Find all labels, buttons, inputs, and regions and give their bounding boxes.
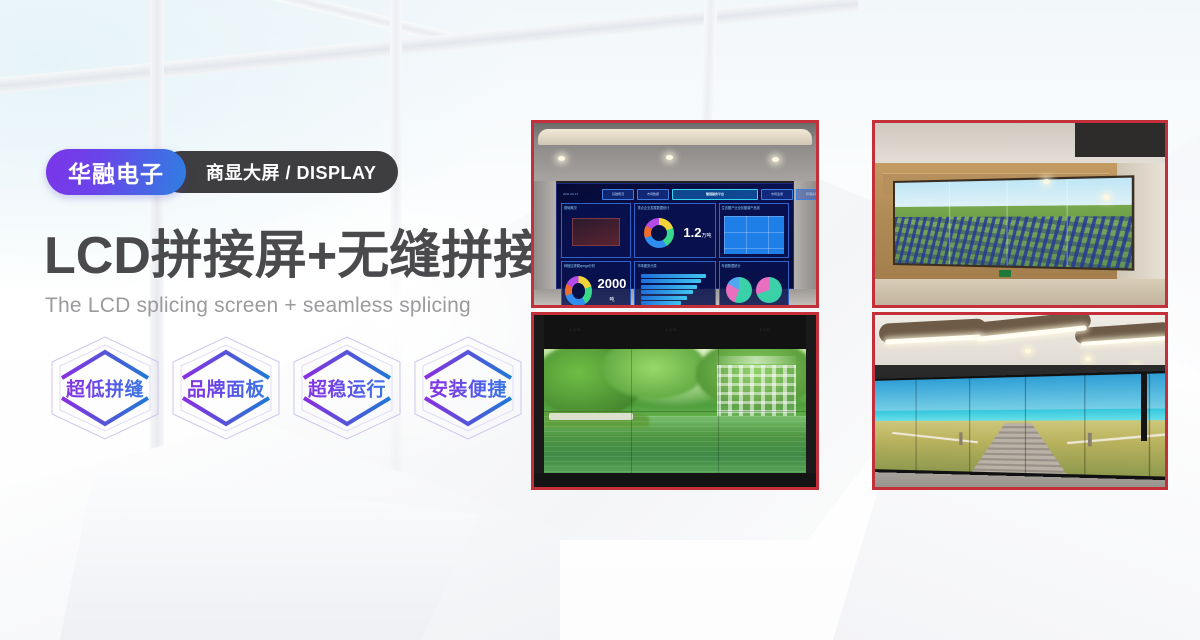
downlight-icon bbox=[1025, 349, 1031, 353]
dashboard-nav-button: 基础概况 bbox=[602, 189, 634, 200]
bezel-seam bbox=[969, 378, 970, 471]
video-wall-screen bbox=[875, 370, 1165, 482]
screen-right-bezel bbox=[806, 315, 816, 487]
bezel-seam bbox=[916, 380, 917, 470]
downlight-icon bbox=[1043, 179, 1050, 184]
dashboard-card-title: 年度数据统计 bbox=[722, 263, 741, 268]
product-photo-beach-wall[interactable] bbox=[872, 312, 1168, 490]
product-photo-solar-wall[interactable] bbox=[872, 120, 1168, 308]
floor bbox=[875, 279, 1165, 305]
feature-badge-label: 超低拼缝 bbox=[48, 375, 162, 402]
donut-chart bbox=[644, 218, 674, 248]
dashboard-card-title: 生态圈产业全景图谱产品线 bbox=[722, 205, 760, 210]
pie-chart bbox=[726, 277, 752, 303]
dashboard-card: 重点企业发展数据统计 1.2万吨 bbox=[634, 203, 715, 258]
wall-left bbox=[534, 181, 556, 305]
feature-badge-label: 安装便捷 bbox=[411, 375, 525, 402]
bezel-seam bbox=[1067, 179, 1068, 267]
dashboard-metric-unit: 吨 bbox=[609, 297, 614, 303]
dashboard-metric-value: 2000吨 bbox=[596, 277, 627, 303]
screen-rail-post bbox=[1088, 433, 1092, 447]
promo-banner: 华融电子 商显大屏 / DISPLAY LCD拼接屏+无缝拼接 The LCD … bbox=[0, 0, 1200, 640]
feature-badge-label: 品牌面板 bbox=[169, 375, 283, 402]
calendar-grid bbox=[717, 365, 796, 416]
category-pill: 商显大屏 / DISPLAY bbox=[160, 151, 398, 193]
feature-badge-label: 超稳运行 bbox=[290, 375, 404, 402]
calendar-title bbox=[717, 356, 796, 363]
bezel-seam bbox=[1148, 374, 1149, 477]
dashboard-grid: 基础概况 重点企业发展数据统计 1.2万吨 生态圈产业全景图 bbox=[561, 203, 789, 305]
dashboard-thumbnail bbox=[572, 218, 620, 246]
feature-badge-list: 超低拼缝 品牌面板 bbox=[48, 334, 525, 442]
screen-sea bbox=[875, 408, 1165, 421]
dashboard-metric-unit: 万吨 bbox=[701, 233, 711, 239]
feature-badge[interactable]: 品牌面板 bbox=[169, 334, 283, 442]
downlight-icon bbox=[772, 157, 779, 162]
product-photo-dashboard[interactable]: 2021.09.13 基础概况 市场数据 管理服务平台 市场监测 管理系统 基础… bbox=[531, 120, 819, 308]
dashboard-metric-value: 1.2万吨 bbox=[683, 226, 711, 239]
dashboard-card: 市场服务分类 bbox=[634, 261, 715, 305]
video-wall-screen bbox=[544, 349, 806, 473]
bezel-seam bbox=[949, 182, 950, 265]
dashboard-nav-button: 市场监测 bbox=[761, 189, 793, 200]
dashboard-card: 生态圈产业全景图谱产品线 bbox=[719, 203, 789, 258]
brand-pill: 华融电子 bbox=[46, 149, 186, 195]
dashboard-card-title: 基础概况 bbox=[564, 205, 577, 210]
exit-sign-icon bbox=[999, 270, 1011, 277]
screen-bottom-bezel bbox=[534, 473, 816, 487]
bezel-seam bbox=[1085, 375, 1086, 474]
screen-sky bbox=[875, 372, 1165, 411]
screen-calendar-overlay bbox=[717, 356, 796, 416]
bezel-seam bbox=[1006, 180, 1007, 265]
downlight-icon bbox=[666, 155, 673, 160]
structural-column bbox=[1141, 373, 1147, 441]
dashboard-card-title: 重点企业发展数据统计 bbox=[637, 205, 669, 210]
cove-light bbox=[538, 129, 812, 145]
dashboard-timestamp: 2021.09.13 bbox=[561, 190, 599, 199]
screen-left-bezel bbox=[534, 315, 544, 487]
dashboard-nav-button: 市场数据 bbox=[637, 189, 669, 200]
dashboard-topbar: 2021.09.13 基础概况 市场数据 管理服务平台 市场监测 管理系统 bbox=[561, 188, 789, 200]
dashboard-card-title: 种植区规模среди分析 bbox=[564, 263, 595, 268]
screen-water-reflection bbox=[544, 416, 806, 473]
downlight-icon bbox=[1085, 357, 1091, 361]
wall-right bbox=[794, 181, 816, 305]
feature-badge[interactable]: 超稳运行 bbox=[290, 334, 404, 442]
downlight-icon bbox=[558, 156, 565, 161]
video-wall-screen bbox=[893, 175, 1134, 270]
dashboard-card: 种植区规模среди分析 2000吨 bbox=[561, 261, 631, 305]
feature-badge[interactable]: 安装便捷 bbox=[411, 334, 525, 442]
screen-top-bezel: LCD LCD LCD bbox=[534, 315, 816, 349]
downlight-icon bbox=[1103, 195, 1110, 200]
bezel-seam bbox=[1025, 377, 1026, 473]
dashboard-title: 管理服务平台 bbox=[672, 189, 758, 200]
pie-chart bbox=[756, 277, 782, 303]
screen-rail-post bbox=[959, 432, 962, 445]
dashboard-card: 基础概况 bbox=[561, 203, 631, 258]
feature-badge[interactable]: 超低拼缝 bbox=[48, 334, 162, 442]
ceiling-dark-panel bbox=[1075, 123, 1165, 157]
brand-tag-row: 华融电子 商显大屏 / DISPLAY bbox=[46, 149, 398, 195]
video-wall-screen: 2021.09.13 基础概况 市场数据 管理服务平台 市场监测 管理系统 基础… bbox=[556, 183, 794, 289]
topology-diagram bbox=[724, 216, 784, 254]
dashboard-card: 年度数据统计 bbox=[719, 261, 789, 305]
bezel-seam bbox=[544, 411, 806, 412]
screen-solar-panels bbox=[895, 216, 1132, 269]
dashboard-nav-button: 管理系统 bbox=[796, 189, 816, 200]
bar-list bbox=[638, 268, 711, 305]
donut-chart bbox=[565, 276, 592, 305]
screen-sky bbox=[895, 178, 1132, 207]
dashboard-card-title: 市场服务分类 bbox=[637, 263, 656, 268]
product-photo-willow-wall[interactable]: LCD LCD LCD bbox=[531, 312, 819, 490]
